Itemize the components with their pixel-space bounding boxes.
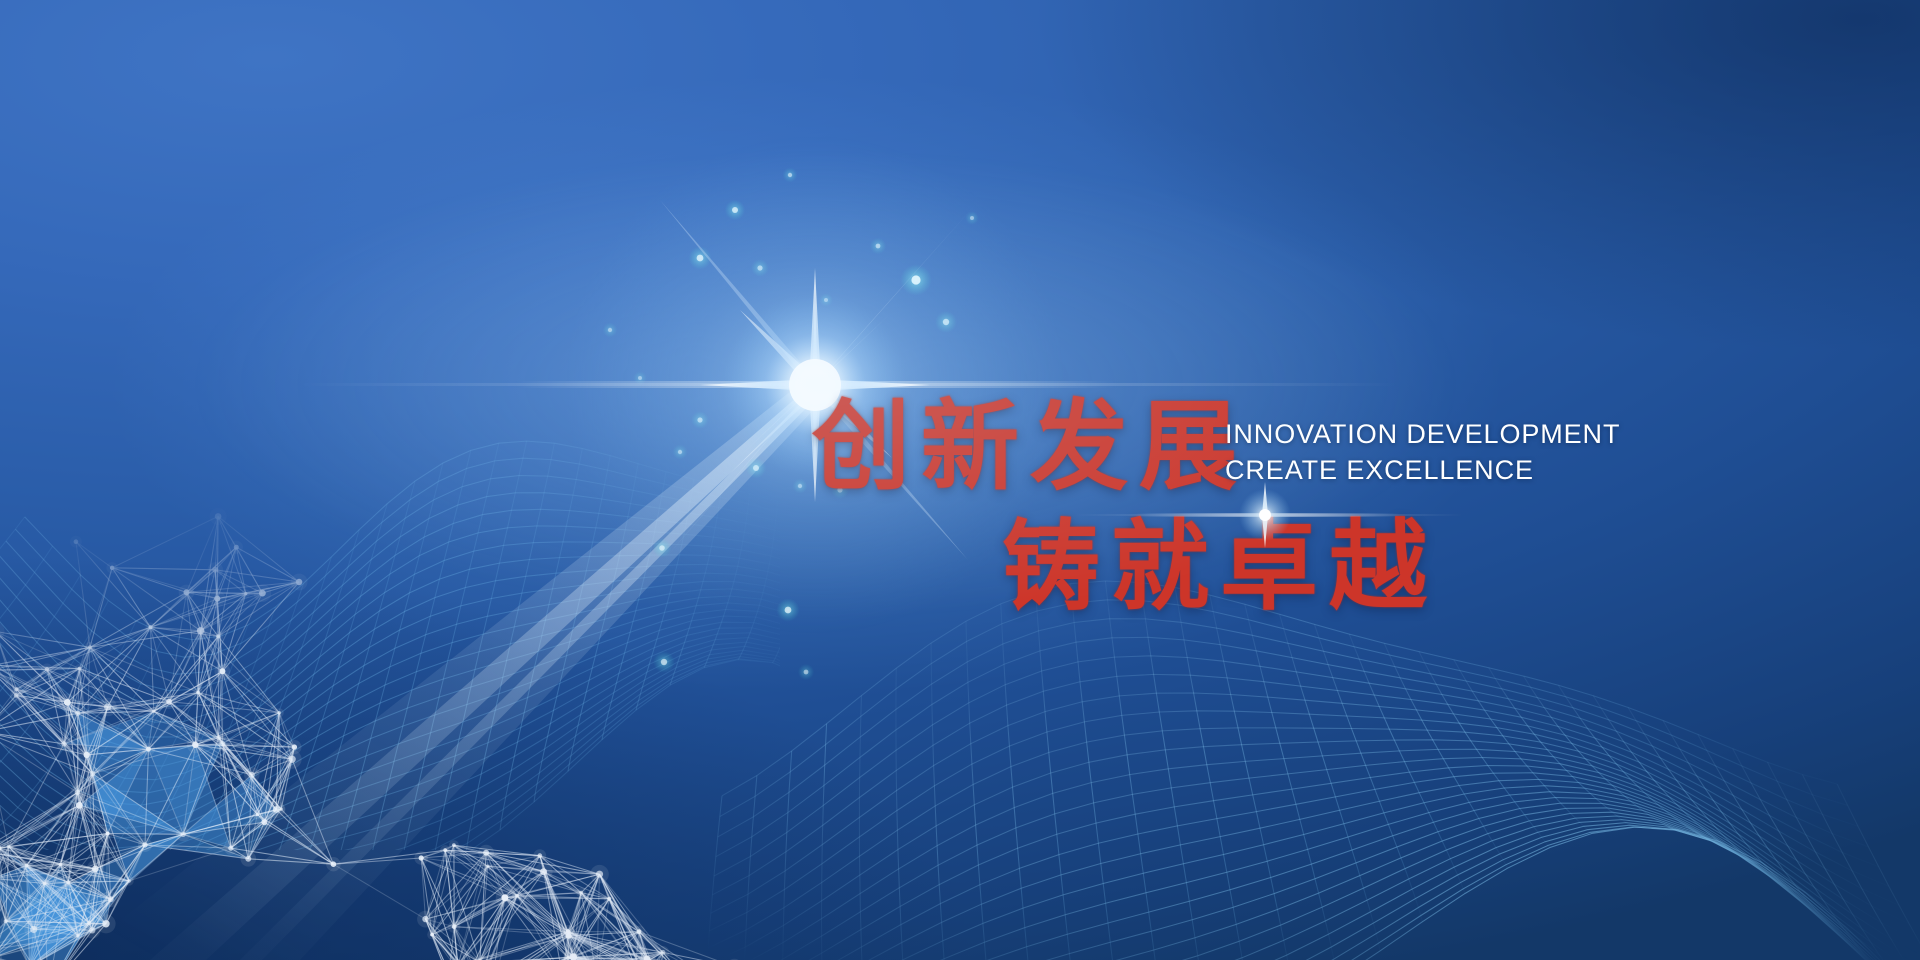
subtitle-line-1: INNOVATION DEVELOPMENT (1225, 417, 1620, 453)
small-sparkle-group (1075, 482, 1465, 548)
wireframe-terrain-left (0, 441, 861, 906)
small-sparkle (0, 0, 1920, 960)
top-light-wash (0, 0, 1920, 960)
wireframe-terrain-layer (0, 0, 1920, 960)
polygon-network-layer (0, 0, 1920, 960)
light-burst-group (300, 135, 1400, 635)
network-edges (0, 516, 734, 960)
light-burst (0, 0, 1920, 960)
diagonal-light-beam (0, 0, 1920, 960)
headline-line-2: 铸就卓越 (1002, 518, 1438, 616)
network-polygons (0, 702, 281, 960)
wireframe-terrain-right (700, 581, 1920, 960)
network-nodes (0, 508, 743, 960)
banner-canvas: 创新发展 铸就卓越 INNOVATION DEVELOPMENT CREATE … (0, 0, 1920, 960)
headline-line-1: 创新发展 (812, 398, 1248, 496)
subtitle-line-2: CREATE EXCELLENCE (1225, 453, 1620, 489)
subtitle-block: INNOVATION DEVELOPMENT CREATE EXCELLENCE (1225, 417, 1620, 489)
background-gradient (0, 0, 1920, 960)
particle-layer (0, 0, 1920, 960)
background-vignette (0, 0, 1920, 960)
